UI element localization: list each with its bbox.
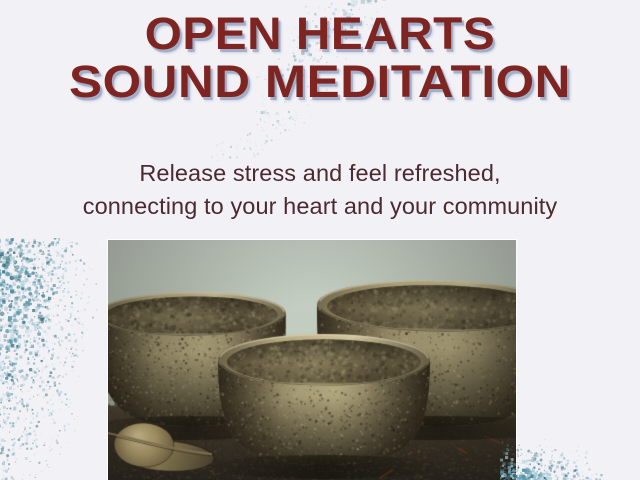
poster-canvas: OPEN HEARTS SOUND MEDITATION Release str… xyxy=(0,0,640,480)
speckle-splatter-right-icon xyxy=(500,388,640,480)
subtitle-line-one: Release stress and feel refreshed, xyxy=(0,157,640,190)
singing-bowls-photo xyxy=(108,240,516,480)
title-line-two: SOUND MEDITATION xyxy=(0,60,640,104)
subtitle: Release stress and feel refreshed, conne… xyxy=(0,157,640,224)
subtitle-line-two: connecting to your heart and your commun… xyxy=(0,190,640,223)
singing-bowls-image xyxy=(108,240,516,480)
title-line-one: OPEN HEARTS xyxy=(0,12,640,56)
page-title: OPEN HEARTS SOUND MEDITATION xyxy=(0,12,640,104)
